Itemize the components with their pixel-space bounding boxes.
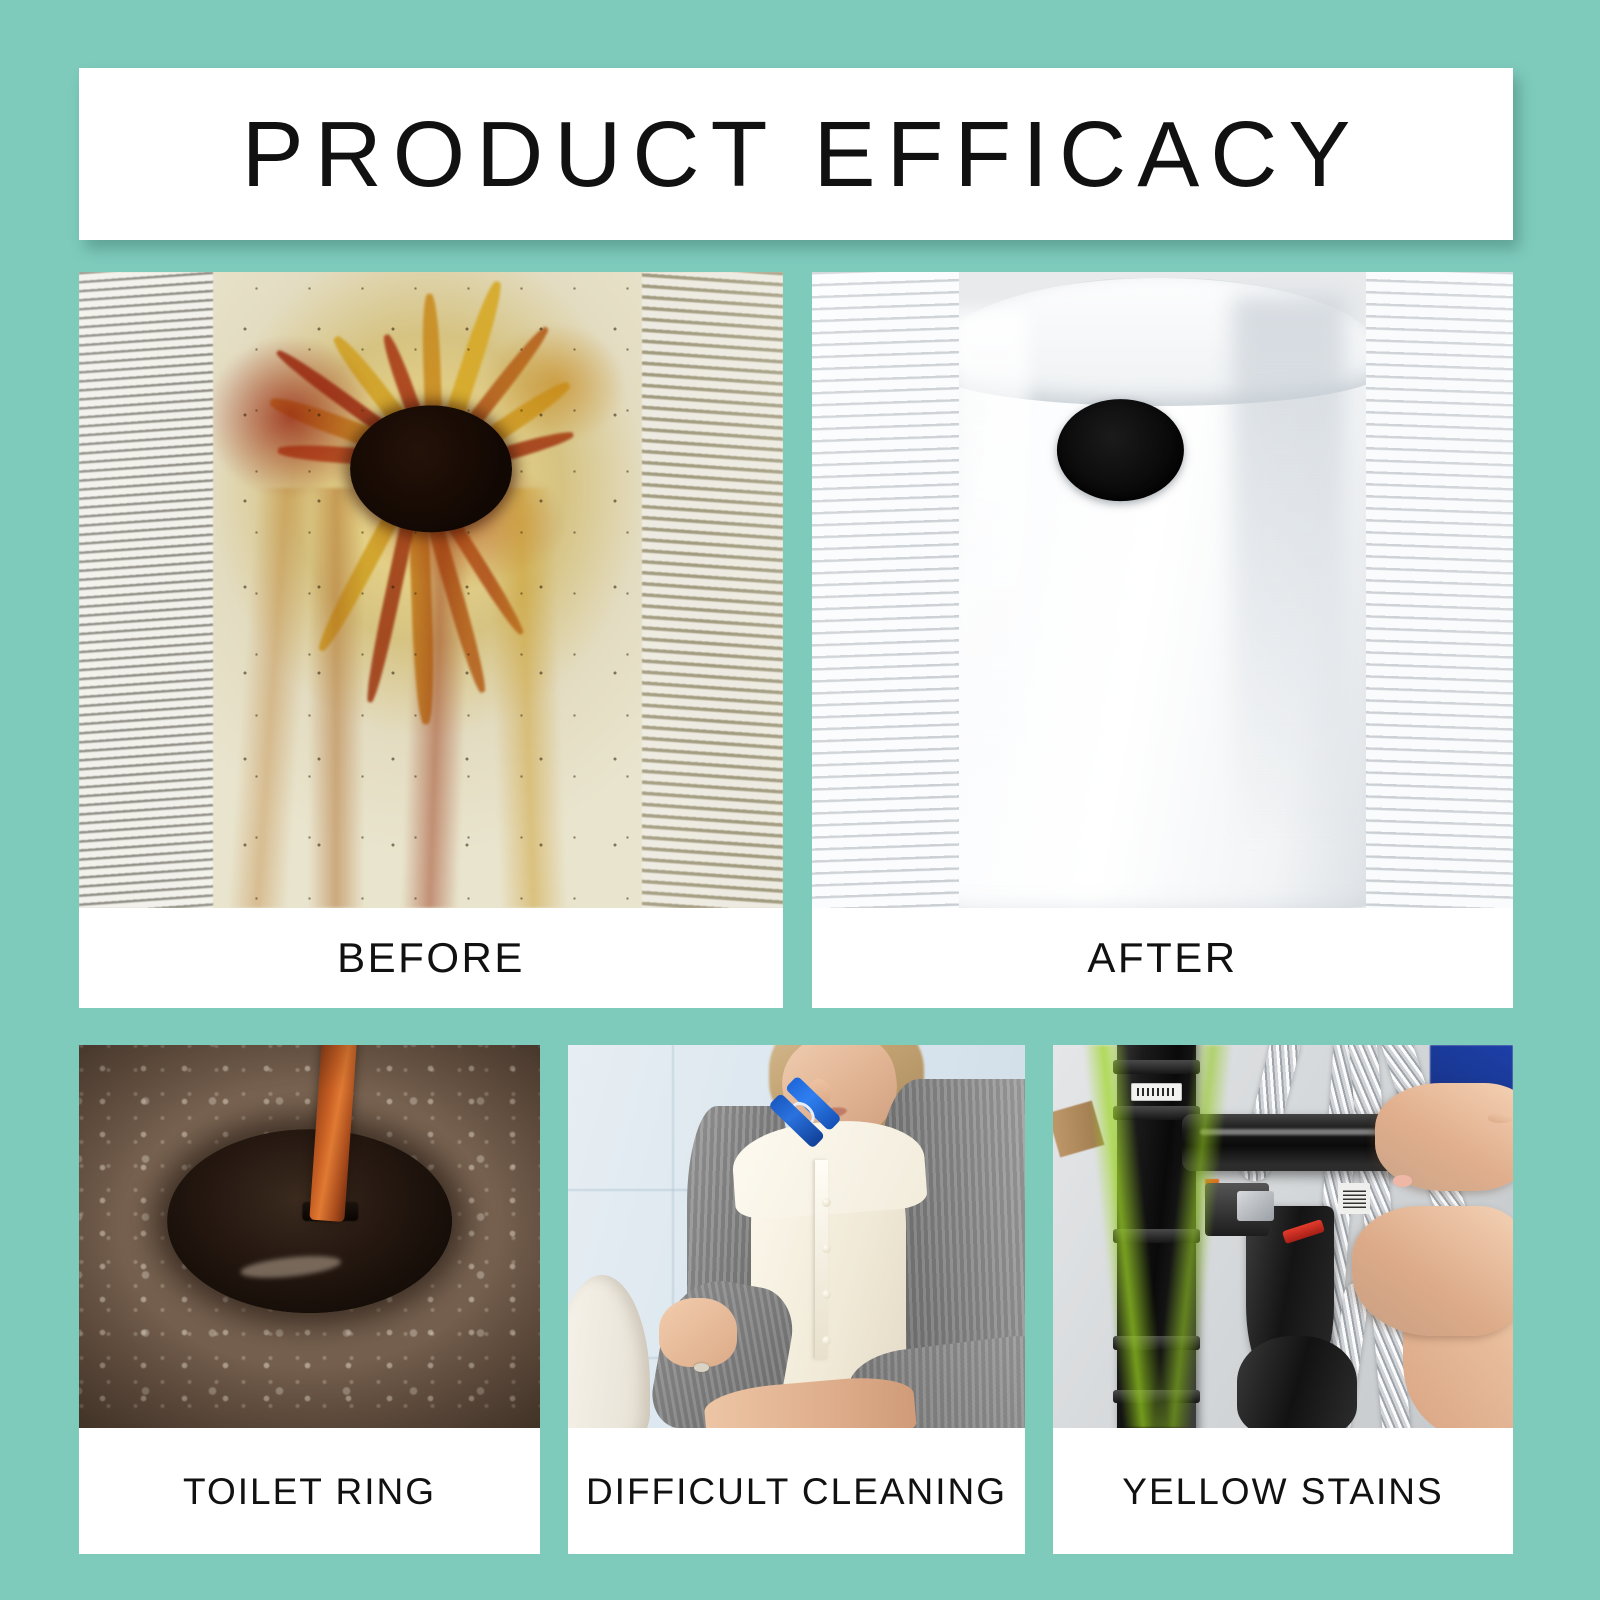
- plumbing-image: [1053, 1045, 1513, 1428]
- after-gloss-highlight: [952, 310, 1029, 768]
- blouse-button: [822, 1244, 831, 1253]
- caption-before: BEFORE: [79, 908, 783, 1008]
- before-toilet-image: [79, 272, 783, 908]
- plumber-upper-hand: [1375, 1083, 1513, 1190]
- panel-after: AFTER: [812, 272, 1513, 1008]
- after-drain-hole: [1057, 399, 1183, 501]
- ring-vignette: [79, 1045, 540, 1428]
- photo-difficult-cleaning: [568, 1045, 1025, 1428]
- plumber-finger: [1488, 1113, 1513, 1123]
- blouse-placket: [815, 1160, 829, 1359]
- photo-after: [812, 272, 1513, 908]
- photo-yellow-stains: [1053, 1045, 1513, 1428]
- clothespin-spring: [786, 1098, 818, 1130]
- plunger-image: [79, 1045, 540, 1428]
- photo-before: [79, 272, 783, 908]
- panel-before: BEFORE: [79, 272, 783, 1008]
- caption-yellow-stains: YELLOW STAINS: [1053, 1428, 1513, 1554]
- page-title: PRODUCT EFFICACY: [231, 108, 1362, 201]
- before-brush-left: [79, 272, 213, 908]
- panel-difficult-cleaning: DIFFICULT CLEANING: [568, 1045, 1025, 1554]
- blouse-button: [822, 1336, 831, 1345]
- after-tile-left: [812, 272, 959, 908]
- caption-yellow-stains-label: YELLOW STAINS: [1122, 1473, 1443, 1510]
- before-grime-specks: [199, 272, 657, 908]
- blouse-button: [822, 1198, 831, 1207]
- caption-after: AFTER: [812, 908, 1513, 1008]
- caption-after-label: AFTER: [1087, 937, 1237, 979]
- caption-difficult-cleaning-label: DIFFICULT CLEANING: [586, 1473, 1007, 1510]
- title-banner: PRODUCT EFFICACY: [79, 68, 1513, 240]
- blouse-button: [822, 1290, 831, 1299]
- caption-difficult-cleaning: DIFFICULT CLEANING: [568, 1428, 1025, 1554]
- after-tile-right: [1366, 272, 1513, 908]
- after-inner-shadow: [1233, 297, 1345, 844]
- woman-clothespin-image: [568, 1045, 1025, 1428]
- panel-toilet-ring: TOILET RING: [79, 1045, 540, 1554]
- before-drain-hole: [350, 406, 512, 533]
- fingernail: [1393, 1175, 1411, 1186]
- plumber-lower-hand: [1352, 1206, 1513, 1336]
- caption-before-label: BEFORE: [337, 937, 525, 979]
- woman-hand: [659, 1298, 737, 1367]
- caption-toilet-ring-label: TOILET RING: [183, 1473, 436, 1510]
- panel-yellow-stains: YELLOW STAINS: [1053, 1045, 1513, 1554]
- photo-toilet-ring: [79, 1045, 540, 1428]
- before-brush-right: [642, 272, 783, 908]
- after-toilet-image: [812, 272, 1513, 908]
- caption-toilet-ring: TOILET RING: [79, 1428, 540, 1554]
